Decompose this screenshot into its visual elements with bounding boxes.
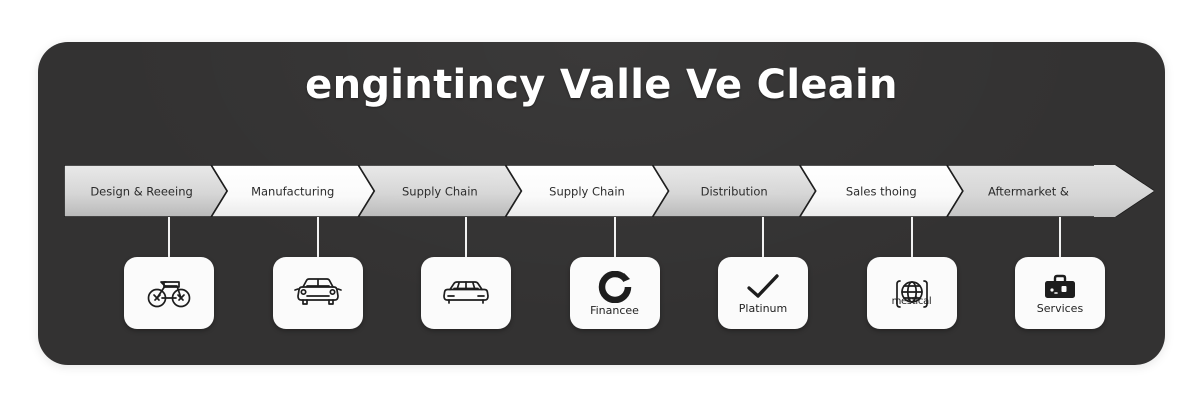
infographic-panel: engintincy Valle Ve Cleain Design & Reee… — [38, 42, 1165, 365]
icon-card-6[interactable]: mestical — [867, 257, 957, 329]
process-step-label-5: Distribution — [701, 185, 768, 199]
process-step-label-3: Supply Chain — [402, 185, 478, 199]
briefcase-icon — [1043, 273, 1077, 301]
flow-arrow-head — [1094, 165, 1154, 217]
icon-card-caption-5: Platinum — [739, 302, 787, 315]
recycle-icon — [598, 271, 632, 303]
icon-card-1[interactable] — [124, 257, 214, 329]
process-step-label-1: Design & Reeeing — [90, 185, 192, 199]
connector-line-4 — [614, 217, 616, 257]
process-step-label-4: Supply Chain — [549, 185, 625, 199]
connector-line-5 — [762, 217, 764, 257]
sports-car-icon — [440, 277, 492, 309]
car-front-icon — [292, 275, 344, 311]
connector-line-3 — [465, 217, 467, 257]
icon-card-caption-6: mestical — [867, 296, 957, 307]
check-icon — [746, 273, 780, 301]
icon-card-7[interactable]: Services — [1015, 257, 1105, 329]
icon-card-2[interactable] — [273, 257, 363, 329]
process-step-label-2: Manufacturing — [251, 185, 334, 199]
bicycle-icon — [146, 276, 192, 310]
process-flow-band: Design & ReeeingManufacturingSupply Chai… — [64, 165, 1154, 217]
page-title: engintincy Valle Ve Cleain — [38, 62, 1165, 108]
connector-line-1 — [168, 217, 170, 257]
process-step-label-6: Sales thoing — [846, 185, 917, 199]
icon-card-caption-7: Services — [1037, 302, 1083, 315]
connector-line-2 — [317, 217, 319, 257]
process-flow-svg: Design & ReeeingManufacturingSupply Chai… — [64, 165, 1154, 217]
connector-line-6 — [911, 217, 913, 257]
process-step-label-7: Aftermarket & — [988, 185, 1069, 199]
icon-card-4[interactable]: Financee — [570, 257, 660, 329]
connector-line-7 — [1059, 217, 1061, 257]
icon-card-3[interactable] — [421, 257, 511, 329]
icon-card-5[interactable]: Platinum — [718, 257, 808, 329]
icon-card-caption-4: Financee — [590, 304, 639, 317]
